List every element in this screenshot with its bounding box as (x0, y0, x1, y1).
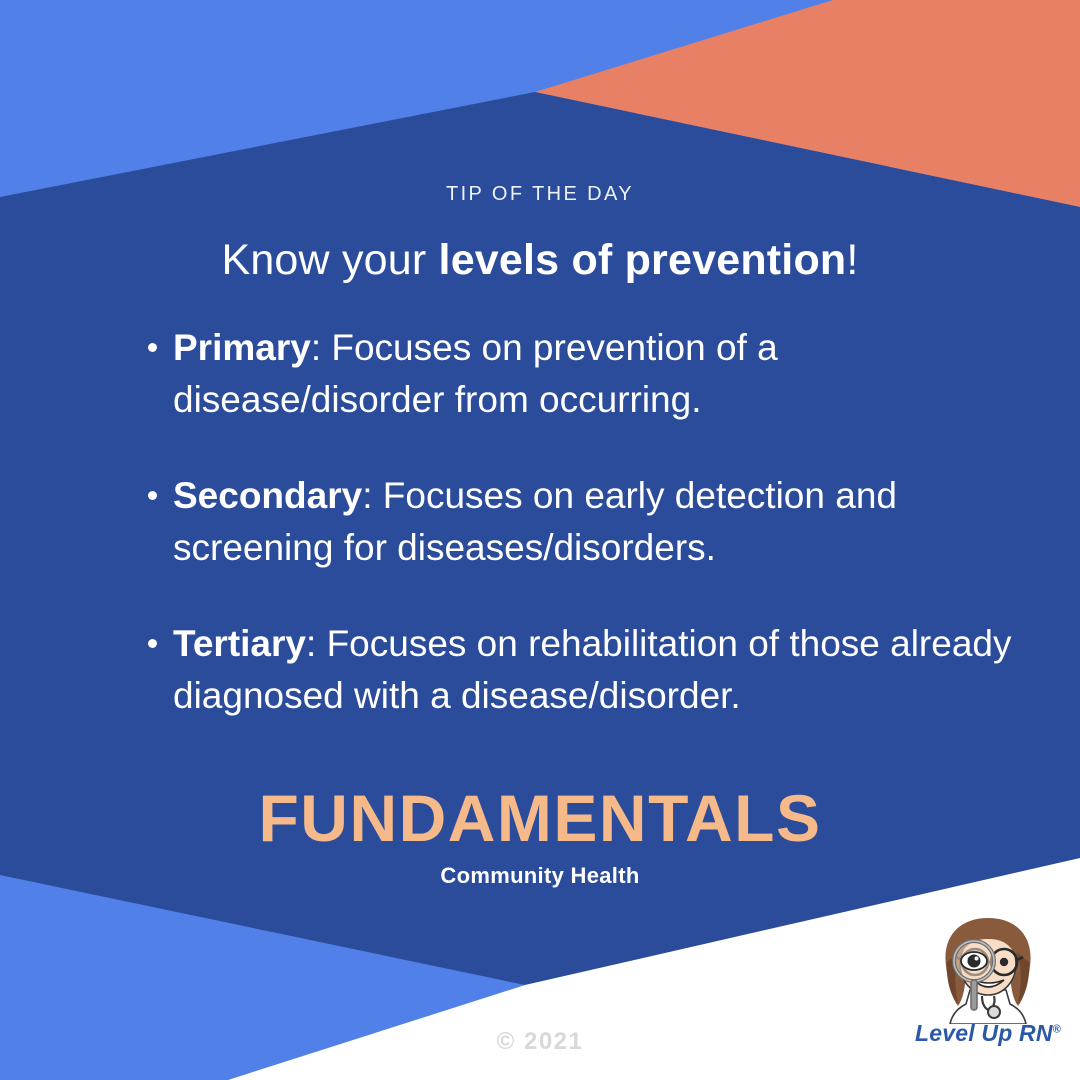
headline-lead: Know your (221, 236, 438, 284)
list-item-text: Primary: Focuses on prevention of a dise… (173, 322, 1028, 426)
eyebrow-label: TIP OF THE DAY (0, 183, 1080, 206)
poster-content: TIP OF THE DAY Know your levels of preve… (0, 0, 1080, 1080)
list-item-separator: : (306, 623, 327, 664)
list-item: Tertiary: Focuses on rehabilitation of t… (148, 618, 1028, 722)
bullet-dot-icon (148, 491, 157, 500)
list-item-term: Primary (173, 327, 311, 368)
brand-logo: Level Up RN® (908, 912, 1068, 1062)
headline-emphasis: levels of prevention (439, 236, 847, 284)
poster-canvas: TIP OF THE DAY Know your levels of preve… (0, 0, 1080, 1080)
list-item-separator: : (362, 475, 383, 516)
bullet-dot-icon (148, 343, 157, 352)
list-item-separator: : (311, 327, 332, 368)
headline-trail: ! (846, 236, 858, 284)
bullet-dot-icon (148, 639, 157, 648)
nurse-with-magnifier-avatar-icon (922, 912, 1054, 1024)
brand-wordmark: Level Up RN® (908, 1020, 1068, 1047)
list-item-term: Secondary (173, 475, 362, 516)
registered-trademark-icon: ® (1053, 1023, 1061, 1035)
list-item-text: Tertiary: Focuses on rehabilitation of t… (173, 618, 1028, 722)
prevention-levels-list: Primary: Focuses on prevention of a dise… (148, 322, 1028, 722)
course-subtitle: Community Health (0, 863, 1080, 889)
list-item: Secondary: Focuses on early detection an… (148, 470, 1028, 574)
list-item: Primary: Focuses on prevention of a dise… (148, 322, 1028, 426)
page-title: Know your levels of prevention! (0, 234, 1080, 286)
copyright-notice: © 2021 (340, 1028, 740, 1056)
list-item-term: Tertiary (173, 623, 306, 664)
course-title: FUNDAMENTALS (0, 782, 1080, 854)
list-item-text: Secondary: Focuses on early detection an… (173, 470, 1028, 574)
brand-wordmark-text: Level Up RN (915, 1020, 1053, 1046)
